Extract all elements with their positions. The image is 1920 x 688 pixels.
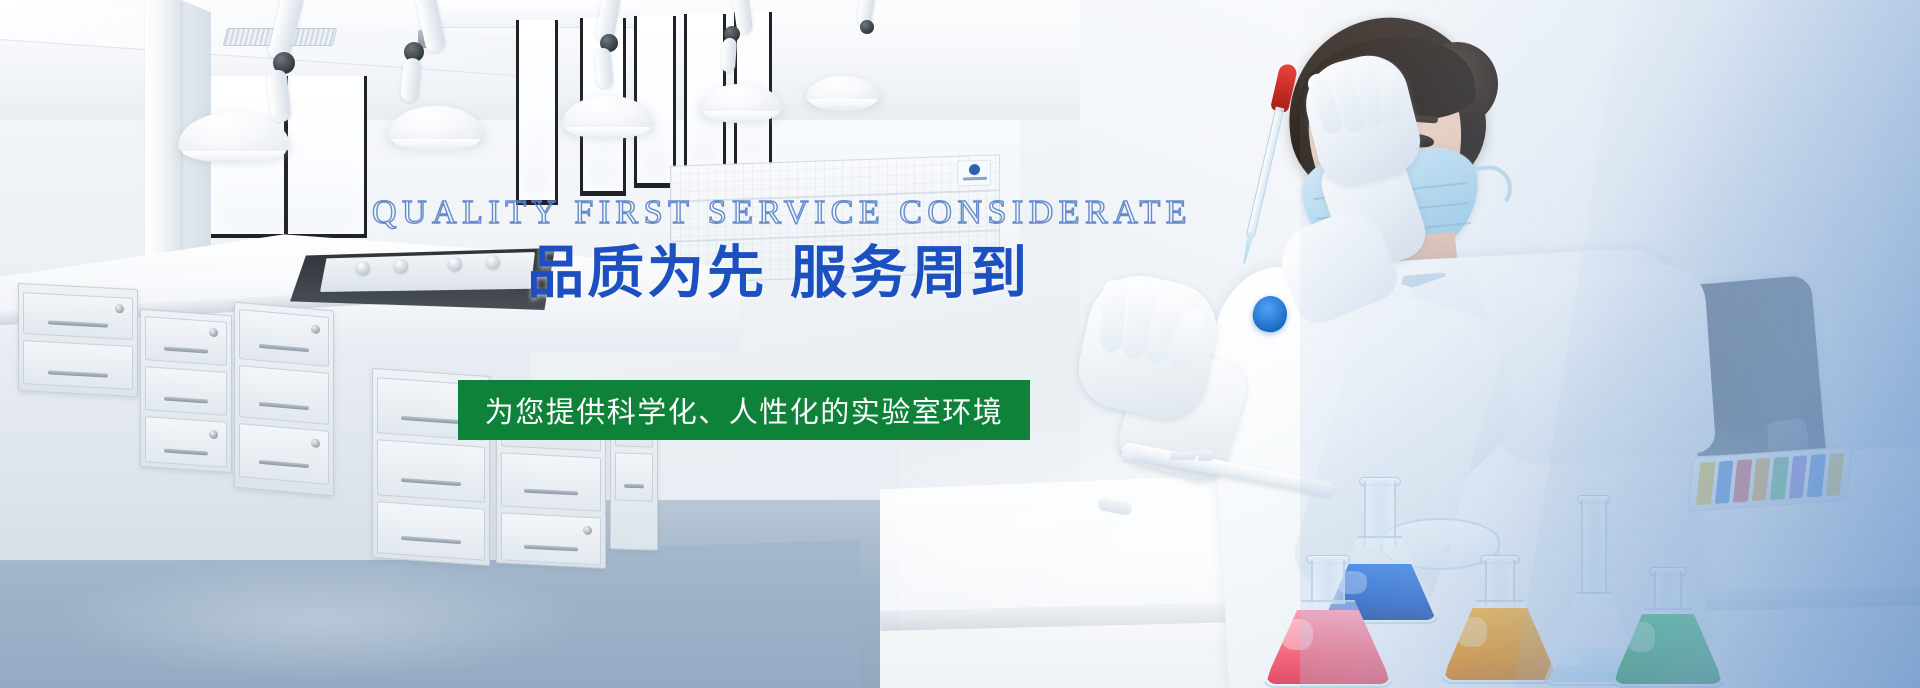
- floor-reflection: [60, 560, 580, 680]
- cabinet[interactable]: [18, 283, 138, 397]
- subtitle-green-bar: 为您提供科学化、人性化的实验室环境: [458, 380, 1030, 440]
- small-desk-item: [1198, 450, 1212, 461]
- banner-text-block: QUALITY FIRST SERVICE CONSIDERATE 品质为先 服…: [370, 196, 1030, 306]
- drawer[interactable]: [377, 501, 485, 561]
- lab-coat-shoulder: [1474, 262, 1717, 468]
- cabinet[interactable]: [140, 309, 232, 473]
- drawer[interactable]: [239, 309, 329, 367]
- bench-knob[interactable]: [356, 261, 370, 275]
- drawer-lock-icon: [311, 438, 320, 448]
- drawer-lock-icon: [209, 430, 218, 440]
- drawer[interactable]: [615, 452, 653, 501]
- flask-neck: [1311, 560, 1345, 604]
- drawer-lock-icon: [311, 324, 320, 334]
- flask-liquid-orange: [1444, 608, 1556, 680]
- flask-body: [1262, 600, 1394, 688]
- drawer-lock-icon: [115, 304, 124, 313]
- window-1: [516, 20, 558, 205]
- drawer[interactable]: [239, 365, 329, 425]
- pipette-tip-rack: [1687, 446, 1852, 512]
- drawer[interactable]: [239, 423, 329, 485]
- subtitle-text: 为您提供科学化、人性化的实验室环境: [485, 389, 1004, 431]
- drawer[interactable]: [23, 292, 133, 340]
- cabinet[interactable]: [234, 302, 334, 497]
- drawer[interactable]: [501, 452, 601, 511]
- lab-scene-background: [0, 0, 1920, 688]
- flask-neck: [1654, 572, 1682, 612]
- mask-ear-strap: [1455, 162, 1515, 215]
- flask-liquid-pink: [1266, 610, 1390, 684]
- flask-neck: [1485, 560, 1515, 606]
- drawer[interactable]: [377, 439, 485, 503]
- drawer[interactable]: [501, 512, 601, 565]
- flask-liquid-green: [1614, 614, 1722, 684]
- drawer[interactable]: [23, 340, 133, 390]
- small-desk-item: [1122, 451, 1139, 463]
- flask-neck: [1581, 500, 1607, 592]
- hero-banner: QUALITY FIRST SERVICE CONSIDERATE 品质为先 服…: [0, 0, 1920, 688]
- drawer[interactable]: [145, 316, 227, 366]
- small-desk-item: [1170, 452, 1196, 461]
- flask-pink: [1262, 560, 1394, 688]
- flask-body: [1610, 608, 1726, 688]
- headline-english: QUALITY FIRST SERVICE CONSIDERATE: [372, 196, 1030, 230]
- drawer-lock-icon: [209, 328, 218, 338]
- shelf-logo-icon: [957, 160, 991, 187]
- drawer-lock-icon: [583, 526, 592, 535]
- drawer[interactable]: [145, 366, 227, 416]
- drawer[interactable]: [145, 416, 227, 468]
- pipette-tips: [1696, 453, 1844, 505]
- headline-chinese: 品质为先 服务周到: [370, 242, 1030, 306]
- flask-green: [1610, 572, 1726, 688]
